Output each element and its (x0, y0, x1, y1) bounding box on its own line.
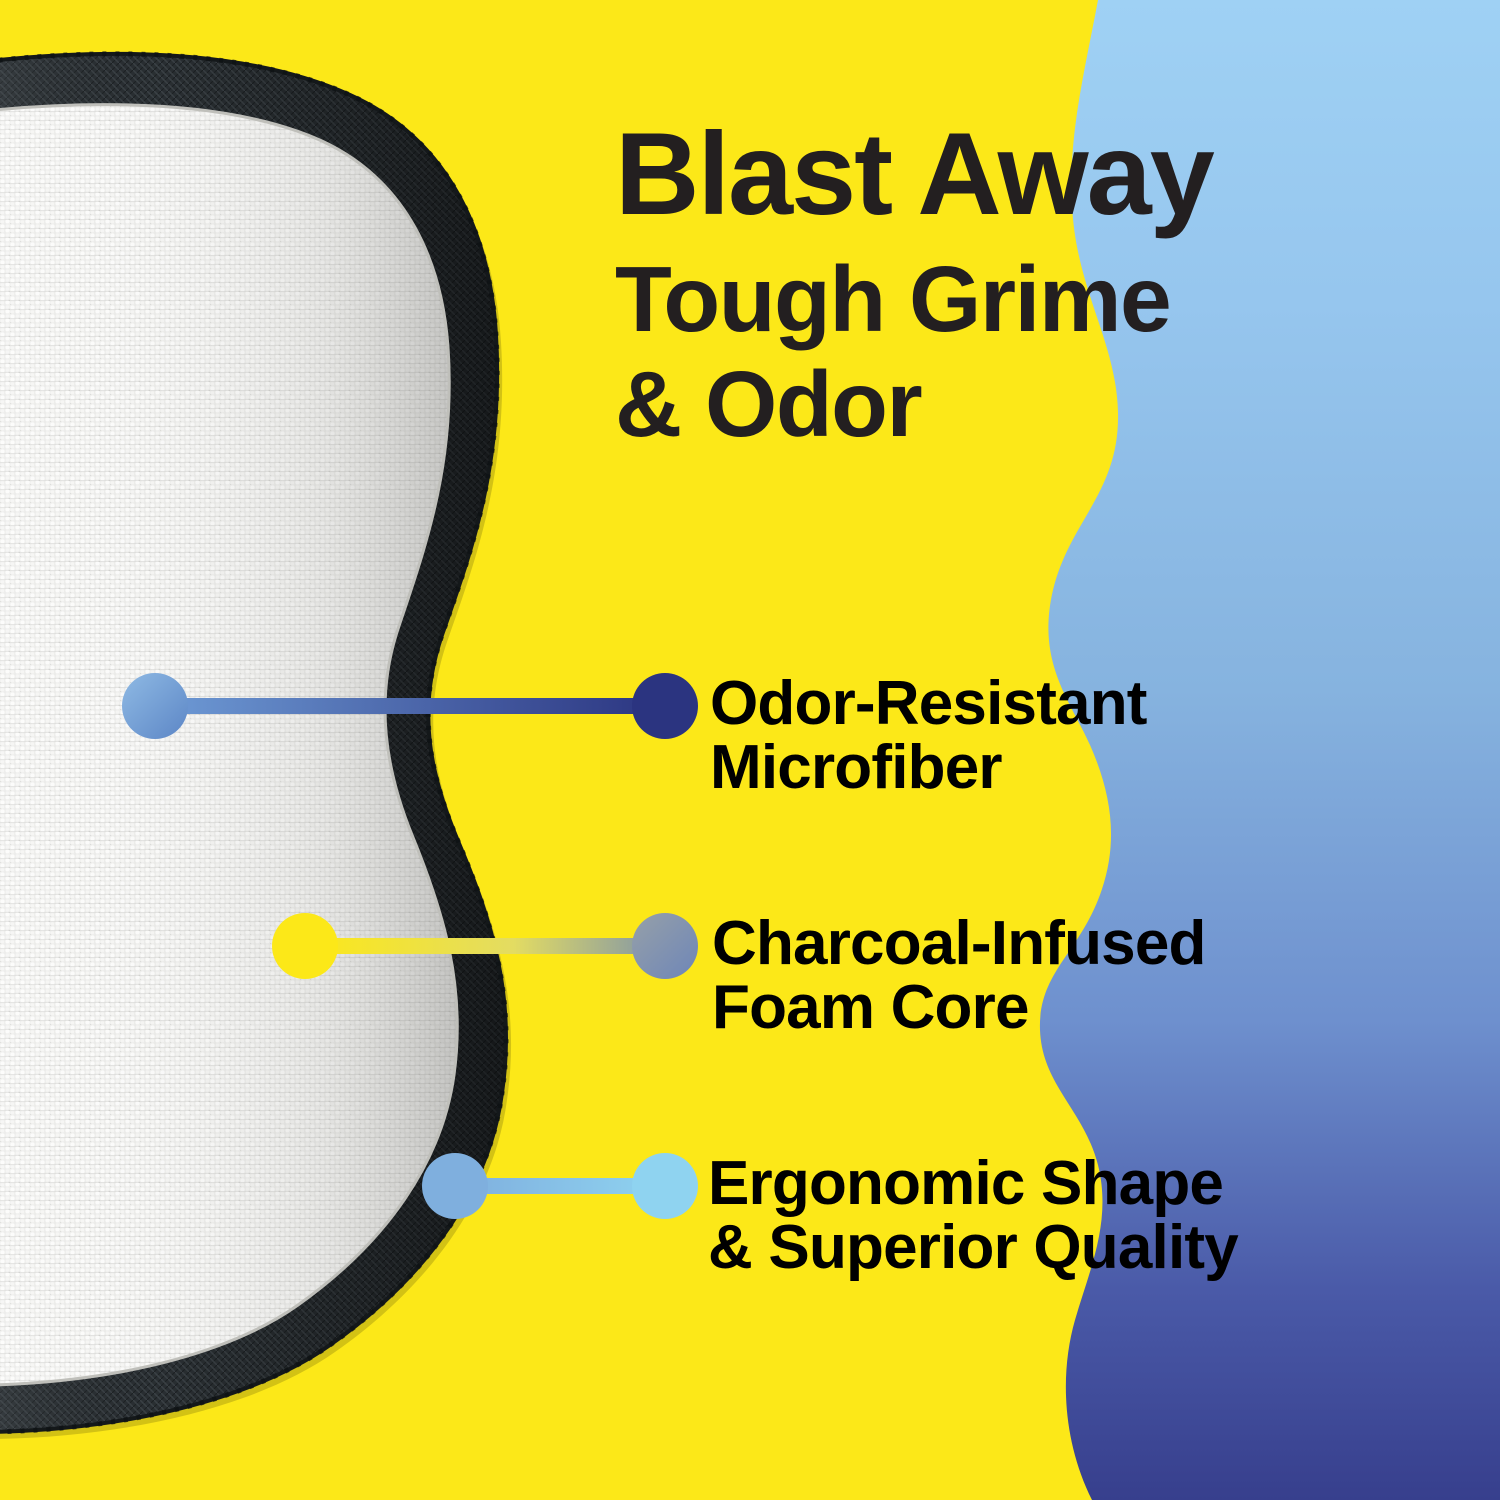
feature-label: Charcoal-Infused Foam Core (712, 912, 1206, 1040)
feature-label-line-1: Ergonomic Shape (708, 1149, 1223, 1218)
headline-line-2: Tough Grime (615, 255, 1475, 343)
product-image-sponge (0, 35, 590, 1465)
feature-label-line-1: Odor-Resistant (710, 669, 1147, 738)
feature-label: Odor-Resistant Microfiber (710, 672, 1147, 800)
infographic-canvas: Blast Away Tough Grime & Odor Odor-Resis… (0, 0, 1500, 1500)
feature-callout-charcoal-infused-foam-core: Charcoal-Infused Foam Core (712, 912, 1206, 1040)
feature-label-line-1: Charcoal-Infused (712, 909, 1206, 978)
headline-block: Blast Away Tough Grime & Odor (615, 118, 1475, 449)
feature-label-line-2: & Superior Quality (708, 1216, 1238, 1280)
headline-line-3: & Odor (615, 360, 1475, 448)
feature-callout-odor-resistant-microfiber: Odor-Resistant Microfiber (710, 672, 1147, 800)
feature-label-line-2: Foam Core (712, 976, 1206, 1040)
feature-callout-ergonomic-shape-superior-quality: Ergonomic Shape & Superior Quality (708, 1152, 1238, 1280)
headline-line-1: Blast Away (615, 118, 1475, 229)
feature-label: Ergonomic Shape & Superior Quality (708, 1152, 1238, 1280)
feature-label-line-2: Microfiber (710, 736, 1147, 800)
